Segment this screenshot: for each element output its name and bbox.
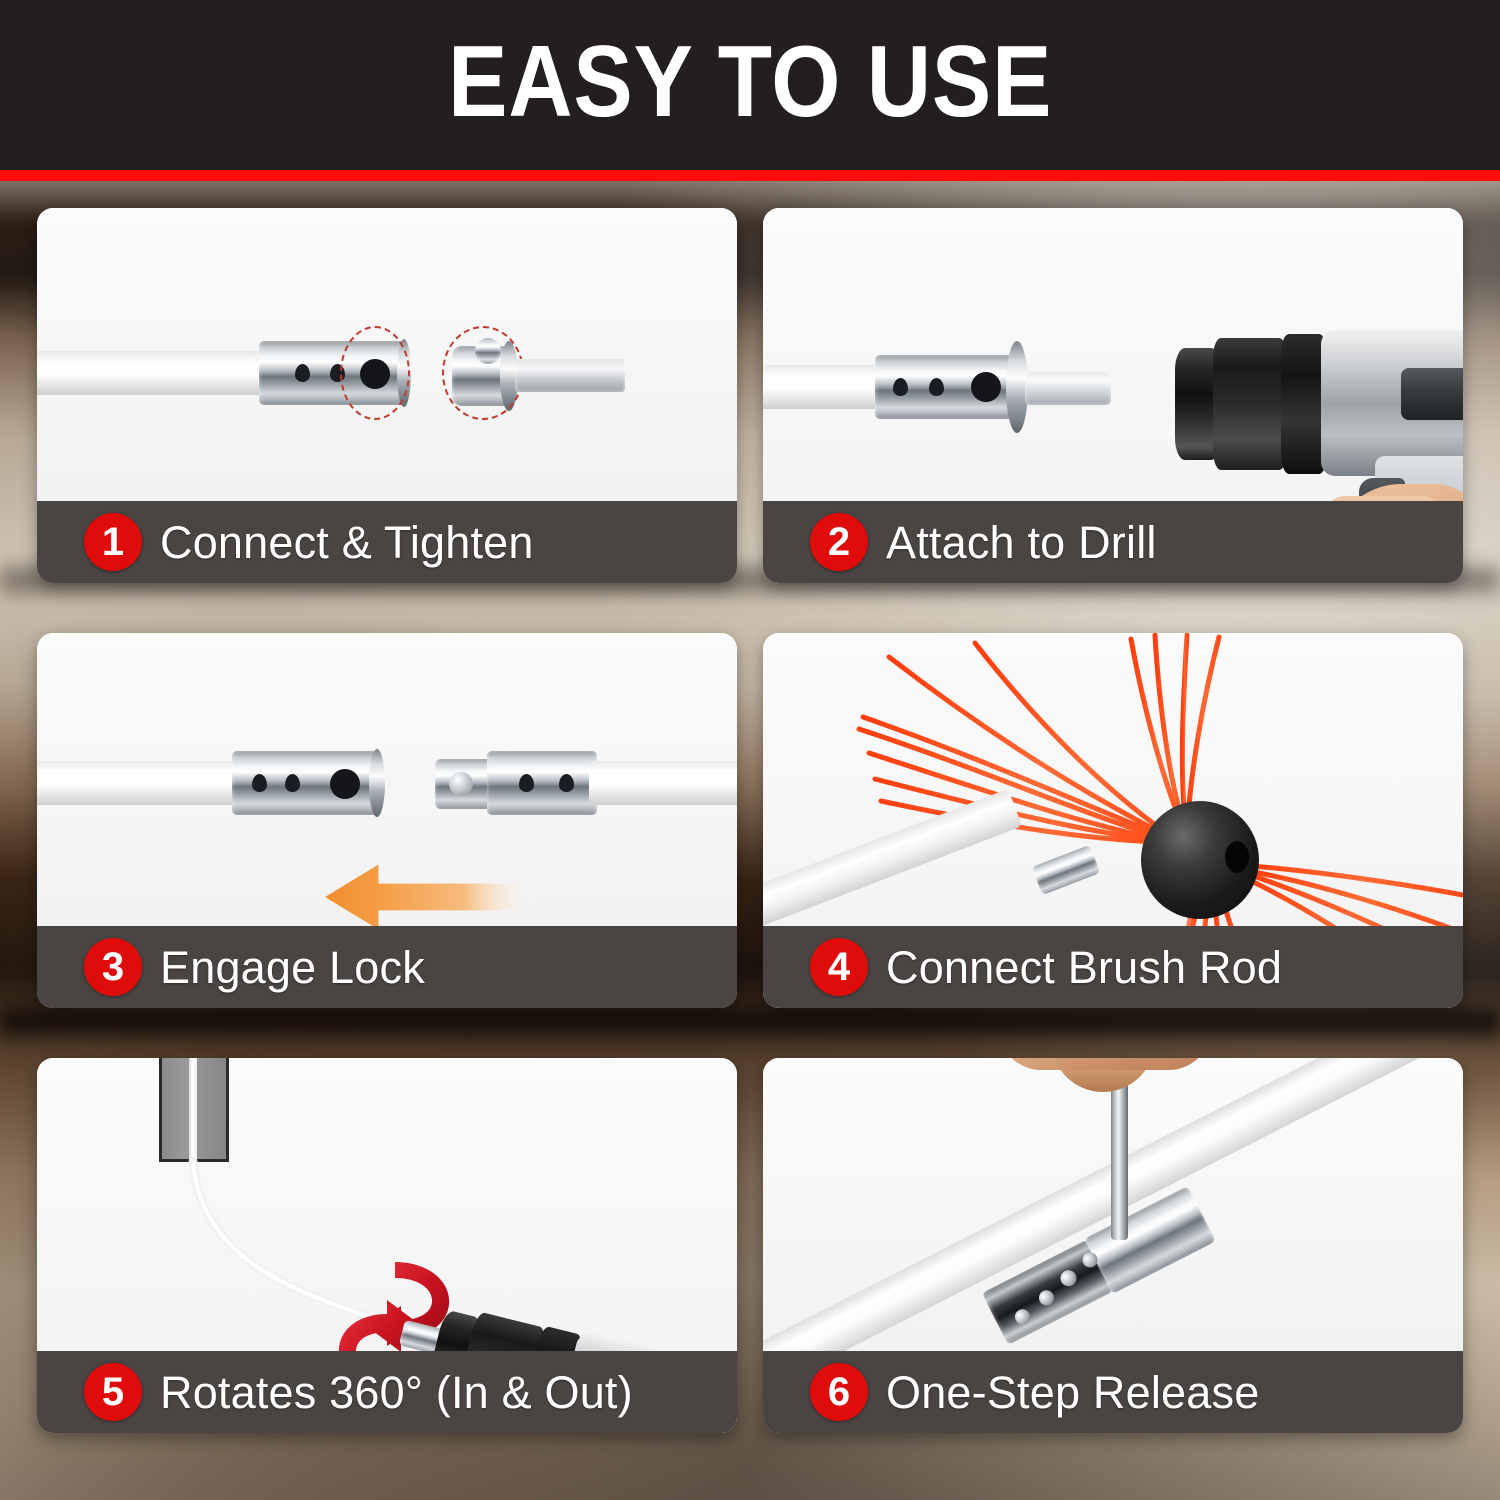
step-4-caption: 4 Connect Brush Rod: [763, 926, 1463, 1008]
header-accent-rule: [0, 170, 1500, 181]
step-card-6[interactable]: 6 One-Step Release: [763, 1058, 1463, 1433]
step-5-caption: 5 Rotates 360° (In & Out): [37, 1351, 737, 1433]
connector-pin-hole-icon: [252, 774, 267, 792]
step-card-1[interactable]: 1 Connect & Tighten: [37, 208, 737, 583]
white-rod-icon: [37, 351, 267, 395]
hex-shank-icon: [515, 359, 625, 392]
step-number-badge: 3: [84, 938, 142, 996]
white-rod-icon: [763, 365, 883, 409]
connector-pin-hole-icon: [929, 378, 944, 396]
connector-pin-hole-icon: [559, 774, 574, 792]
connector-end-cap-icon: [369, 749, 385, 817]
step-label: Connect Brush Rod: [886, 945, 1282, 990]
step-number-badge: 1: [84, 513, 142, 571]
steps-grid: 1 Connect & Tighten: [37, 208, 1463, 1436]
connector-pin-hole-icon: [893, 378, 908, 396]
coupler-screw-icon: [449, 772, 473, 796]
dashed-highlight-ring-icon: [442, 326, 524, 420]
brush-socket-hole-icon: [1225, 841, 1249, 873]
step-1-illustration: [37, 208, 737, 501]
step-number-badge: 5: [84, 1363, 142, 1421]
step-label: Rotates 360° (In & Out): [160, 1370, 633, 1415]
white-rod-icon: [589, 761, 737, 805]
step-2-caption: 2 Attach to Drill: [763, 501, 1463, 583]
step-3-caption: 3 Engage Lock: [37, 926, 737, 1008]
connector-pin-hole-icon: [285, 774, 300, 792]
step-6-illustration: [763, 1058, 1463, 1351]
orange-left-arrow-icon: [325, 861, 535, 926]
drill-vent-panel-icon: [1401, 368, 1463, 420]
hand-icon: [999, 1058, 1211, 1070]
connector-lock-hole-icon: [971, 372, 1001, 402]
step-1-caption: 1 Connect & Tighten: [37, 501, 737, 583]
step-card-4[interactable]: 4 Connect Brush Rod: [763, 633, 1463, 1008]
dashed-highlight-ring-icon: [340, 326, 410, 420]
step-card-3[interactable]: 3 Engage Lock: [37, 633, 737, 1008]
connector-pin-hole-icon: [295, 364, 310, 382]
hex-shank-icon: [1025, 371, 1111, 405]
step-label: Attach to Drill: [886, 520, 1157, 565]
header-banner: EASY TO USE: [0, 0, 1500, 170]
step-label: Connect & Tighten: [160, 520, 534, 565]
drill-chuck-body-icon: [1213, 338, 1287, 470]
step-3-illustration: [37, 633, 737, 926]
chrome-coupler-icon: [487, 751, 597, 815]
step-label: One-Step Release: [886, 1370, 1259, 1415]
infographic-page: EASY TO USE: [0, 0, 1500, 1500]
step-6-caption: 6 One-Step Release: [763, 1351, 1463, 1433]
connector-lock-hole-icon: [330, 769, 360, 799]
step-number-badge: 4: [810, 938, 868, 996]
white-rod-icon: [37, 761, 239, 805]
step-card-2[interactable]: 2 Attach to Drill: [763, 208, 1463, 583]
step-number-badge: 6: [810, 1363, 868, 1421]
step-card-5[interactable]: 5 Rotates 360° (In & Out): [37, 1058, 737, 1433]
page-title: EASY TO USE: [448, 32, 1052, 139]
step-label: Engage Lock: [160, 945, 425, 990]
step-number-badge: 2: [810, 513, 868, 571]
connector-pin-hole-icon: [519, 774, 534, 792]
